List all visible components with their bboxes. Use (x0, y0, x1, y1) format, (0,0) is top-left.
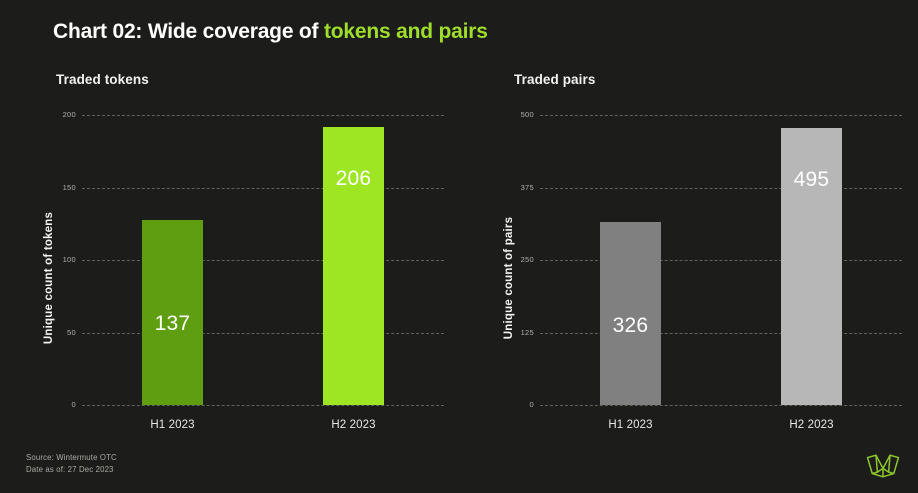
y-tick-125: 125 (521, 328, 534, 337)
y-axis-label-tokens: Unique count of tokens (43, 183, 55, 373)
bar-value-h1-2023-pairs: 326 (600, 314, 661, 338)
source-line: Source: Wintermute OTC (26, 452, 117, 465)
bar-value-h2-2023-tokens: 206 (323, 167, 384, 191)
bar-slot-h2-2023-pairs: 495 H2 2023 (752, 115, 871, 405)
wintermute-logo-icon (864, 451, 902, 481)
x-label-h2-2023-tokens: H2 2023 (323, 419, 384, 431)
y-tick-200: 200 (63, 110, 76, 119)
page-title-main: Chart 02: Wide coverage of (53, 20, 324, 43)
y-tick-375: 375 (521, 183, 534, 192)
footer-source-note: Source: Wintermute OTC Date as of: 27 De… (26, 452, 117, 477)
bar-h1-2023-pairs[interactable]: 326 H1 2023 (600, 222, 661, 405)
y-tick-0: 0 (72, 400, 76, 409)
bar-slot-h1-2023-pairs: 326 H1 2023 (571, 115, 690, 405)
x-label-h1-2023-pairs: H1 2023 (600, 419, 661, 431)
chart-title-traded-tokens: Traded tokens (56, 72, 149, 87)
bar-h2-2023-tokens[interactable]: 206 H2 2023 (323, 127, 384, 405)
y-tick-250: 250 (521, 255, 534, 264)
date-line: Date as of: 27 Dec 2023 (26, 464, 117, 477)
bar-h2-2023-pairs[interactable]: 495 H2 2023 (781, 128, 842, 405)
y-tick-150: 150 (63, 183, 76, 192)
chart-panel-traded-pairs: Traded pairs Unique count of pairs 500 3… (480, 66, 910, 436)
y-tick-500: 500 (521, 110, 534, 119)
bar-slot-h2-2023-tokens: 206 H2 2023 (294, 115, 413, 405)
y-tick-100: 100 (63, 255, 76, 264)
bar-slot-h1-2023-tokens: 137 H1 2023 (113, 115, 232, 405)
y-axis-label-pairs: Unique count of pairs (503, 183, 515, 373)
bar-h1-2023-tokens[interactable]: 137 H1 2023 (142, 220, 203, 405)
x-label-h1-2023-tokens: H1 2023 (142, 419, 203, 431)
bar-value-h1-2023-tokens: 137 (142, 312, 203, 336)
y-tick-0-pairs: 0 (530, 400, 534, 409)
chart-title-traded-pairs: Traded pairs (514, 72, 595, 87)
bar-value-h2-2023-pairs: 495 (781, 168, 842, 192)
plot-area-tokens: 200 150 100 50 0 137 H1 2023 (60, 115, 444, 405)
bar-group-tokens: 137 H1 2023 206 H2 2023 (82, 115, 444, 405)
page-title-accent: tokens and pairs (324, 20, 488, 43)
slide-canvas: Chart 02: Wide coverage of tokens and pa… (0, 0, 918, 493)
bar-group-pairs: 326 H1 2023 495 H2 2023 (540, 115, 902, 405)
x-label-h2-2023-pairs: H2 2023 (781, 419, 842, 431)
gridline-0: 0 (82, 405, 444, 406)
page-title: Chart 02: Wide coverage of tokens and pa… (53, 20, 488, 44)
gridline-0-pairs: 0 (540, 405, 902, 406)
y-tick-50: 50 (67, 328, 76, 337)
plot-area-pairs: 500 375 250 125 0 326 H1 2023 (518, 115, 902, 405)
chart-panel-traded-tokens: Traded tokens Unique count of tokens 200… (22, 66, 452, 436)
